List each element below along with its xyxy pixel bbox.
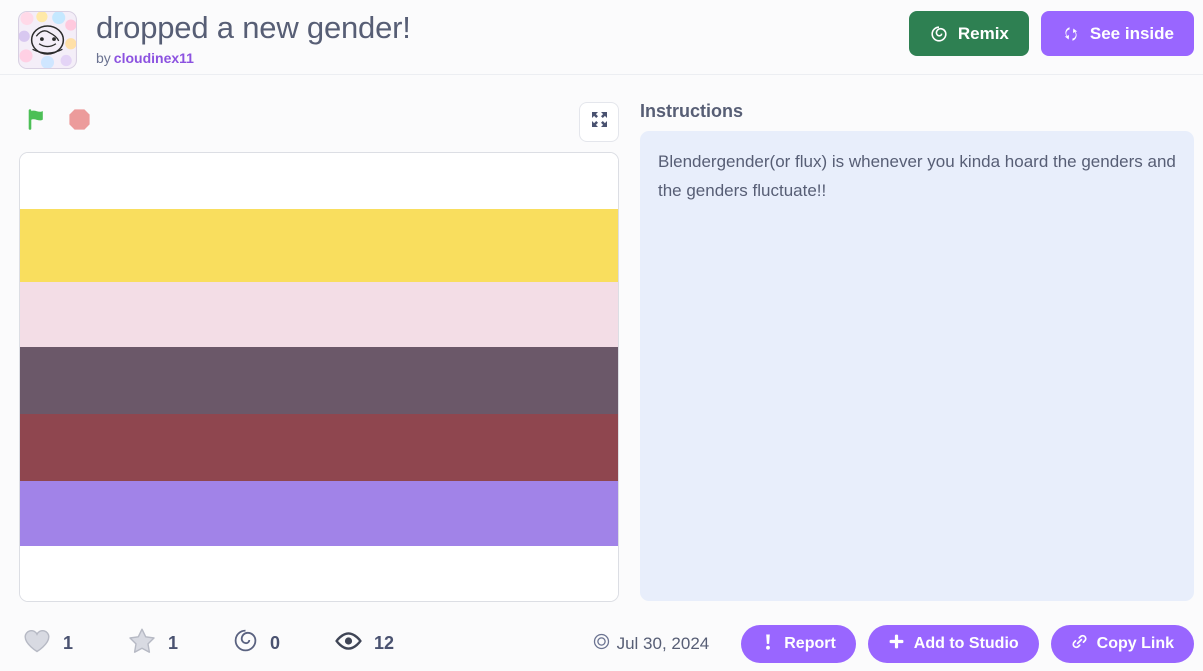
flag-stripe-dark-plum bbox=[20, 347, 618, 414]
instructions-text: Blendergender(or flux) is whenever you k… bbox=[658, 147, 1176, 205]
plus-icon bbox=[888, 633, 905, 655]
see-inside-button[interactable]: See inside bbox=[1041, 11, 1194, 56]
player-control-bar bbox=[19, 104, 619, 142]
project-page: dropped a new gender! bycloudinex11 Remi… bbox=[0, 0, 1203, 671]
code-brackets-icon bbox=[1061, 24, 1081, 44]
stat-loves[interactable]: 1 bbox=[22, 627, 73, 659]
eye-icon bbox=[334, 629, 363, 658]
stop-octagon-icon[interactable] bbox=[66, 106, 93, 138]
by-label: by bbox=[96, 50, 111, 66]
page-header: dropped a new gender! bycloudinex11 Remi… bbox=[0, 0, 1203, 75]
project-stage[interactable] bbox=[19, 152, 619, 602]
flag-stripe-maroon bbox=[20, 414, 618, 481]
thumbnail-art bbox=[19, 12, 76, 68]
copy-link-label: Copy Link bbox=[1097, 635, 1174, 653]
fullscreen-button[interactable] bbox=[579, 102, 619, 142]
flag-stripe-pale-pink bbox=[20, 282, 618, 347]
date-label: Jul 30, 2024 bbox=[617, 634, 710, 654]
fullscreen-icon bbox=[590, 110, 609, 134]
byline: bycloudinex11 bbox=[96, 50, 411, 66]
report-button[interactable]: Report bbox=[741, 625, 856, 663]
copy-link-button[interactable]: Copy Link bbox=[1051, 625, 1194, 663]
remix-button[interactable]: Remix bbox=[909, 11, 1029, 56]
stat-value: 1 bbox=[63, 633, 73, 654]
project-stats: 1 1 0 12 bbox=[22, 626, 448, 660]
add-to-studio-label: Add to Studio bbox=[914, 635, 1019, 653]
header-actions: Remix See inside bbox=[909, 11, 1194, 56]
see-inside-label: See inside bbox=[1090, 24, 1174, 44]
green-flag-icon[interactable] bbox=[25, 106, 52, 138]
spiral-icon bbox=[232, 627, 259, 659]
stat-remixes[interactable]: 0 bbox=[232, 627, 280, 659]
footer-actions: Jul 30, 2024 Report Add to Studio bbox=[593, 625, 1194, 663]
instructions-panel: Blendergender(or flux) is whenever you k… bbox=[640, 131, 1194, 601]
heart-icon bbox=[22, 627, 52, 659]
flag-stripe-lavender bbox=[20, 481, 618, 546]
stat-value: 12 bbox=[374, 633, 394, 654]
project-thumbnail[interactable] bbox=[18, 11, 77, 69]
project-date: Jul 30, 2024 bbox=[593, 633, 710, 655]
stat-value: 1 bbox=[168, 633, 178, 654]
clock-spiral-icon bbox=[593, 633, 610, 655]
star-icon bbox=[127, 626, 157, 660]
add-to-studio-button[interactable]: Add to Studio bbox=[868, 625, 1039, 663]
instructions-heading: Instructions bbox=[640, 101, 743, 122]
author-link[interactable]: cloudinex11 bbox=[114, 50, 194, 66]
flag-stripe-white-bottom bbox=[20, 546, 618, 602]
exclamation-icon bbox=[761, 633, 775, 656]
stat-value: 0 bbox=[270, 633, 280, 654]
flag-stripe-white-top bbox=[20, 153, 618, 209]
stat-favorites[interactable]: 1 bbox=[127, 626, 178, 660]
link-icon bbox=[1071, 633, 1088, 655]
remix-label: Remix bbox=[958, 24, 1009, 44]
report-label: Report bbox=[784, 635, 836, 653]
spiral-icon bbox=[929, 24, 949, 44]
stat-views: 12 bbox=[334, 629, 394, 658]
title-block: dropped a new gender! bycloudinex11 bbox=[96, 8, 411, 66]
flag-stripe-yellow bbox=[20, 209, 618, 282]
page-title: dropped a new gender! bbox=[96, 8, 411, 48]
